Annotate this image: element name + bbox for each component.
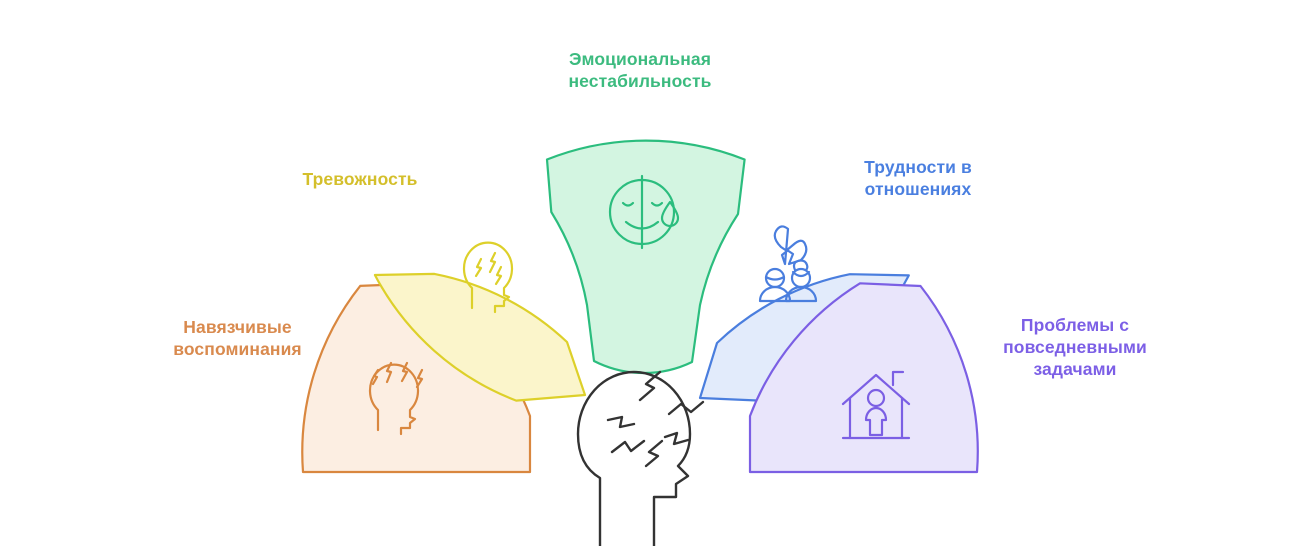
segment-label-relationship-difficulties: Трудности в отношениях xyxy=(838,156,998,200)
segment-label-emotional-instability: Эмоциональная нестабильность xyxy=(540,48,740,92)
head-with-chaotic-thoughts-icon xyxy=(578,372,703,546)
infographic-canvas: Навязчивые воспоминания Тревожность Эмоц… xyxy=(0,0,1300,546)
segment-shape-emotional-instability[interactable] xyxy=(547,141,745,373)
segment-label-obsessive-memories: Навязчивые воспоминания xyxy=(150,316,325,360)
segment-emotional-instability[interactable] xyxy=(547,141,745,373)
segment-label-daily-task-problems: Проблемы с повседневными задачами xyxy=(980,314,1170,381)
segment-label-anxiety: Тревожность xyxy=(270,168,450,190)
